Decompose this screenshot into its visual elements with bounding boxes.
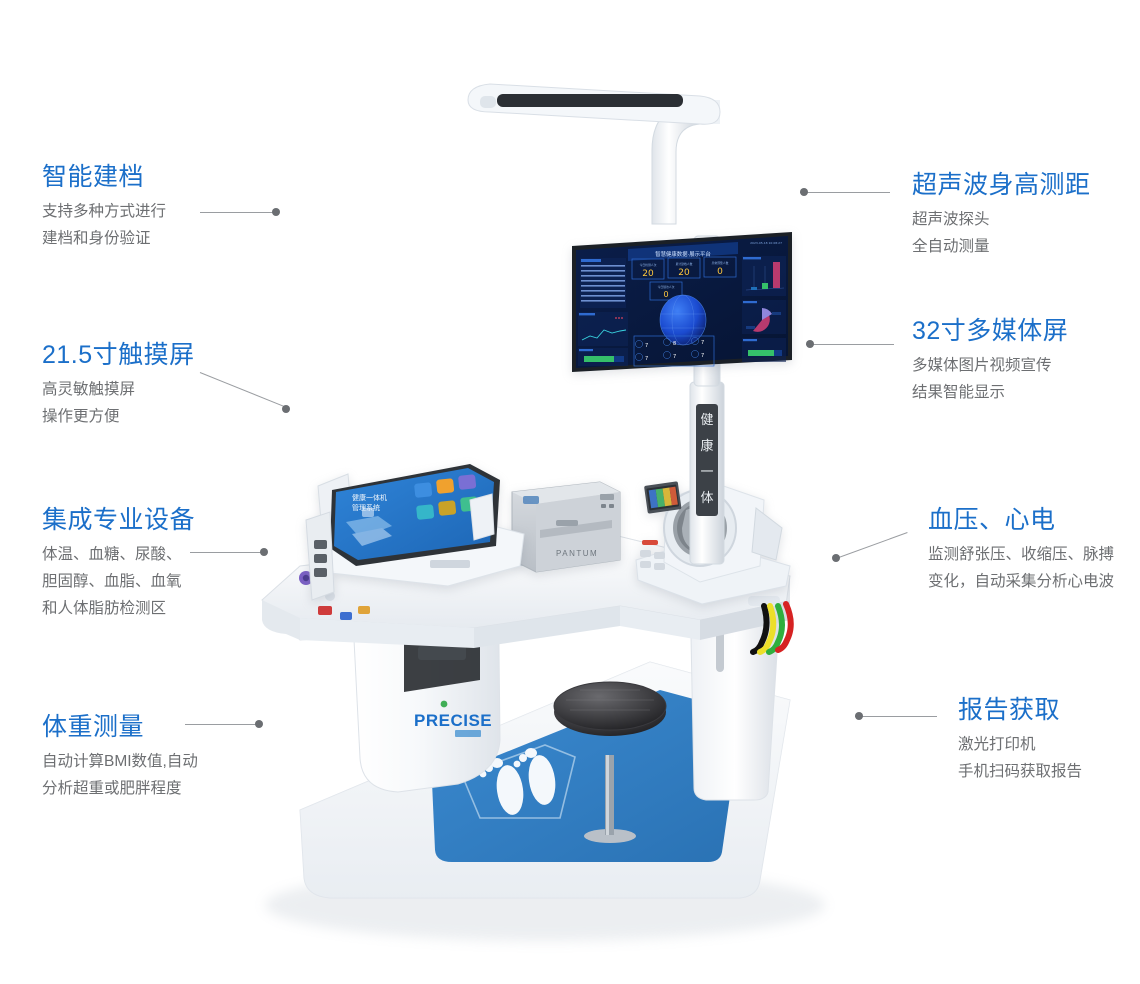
svg-text:康: 康 xyxy=(700,438,713,454)
leader-line-weight-measure xyxy=(185,720,275,730)
callout-weight-measure: 体重测量 自动计算BMI数值,自动 分析超重或肥胖程度 xyxy=(42,712,198,803)
callout-line: 超声波探头 xyxy=(912,207,1091,234)
leader-line-report-retrieval xyxy=(855,712,950,722)
callout-bloodpressure-ecg: 血压、心电 监测舒张压、收缩压、脉搏 变化，自动采集分析心电波 xyxy=(928,505,1114,596)
svg-text:PRECISE: PRECISE xyxy=(414,711,492,730)
laser-printer: PANTUM xyxy=(512,482,620,572)
svg-text:7: 7 xyxy=(701,340,704,346)
svg-text:0: 0 xyxy=(717,267,723,277)
svg-text:20: 20 xyxy=(642,269,654,279)
callout-line: 胆固醇、血脂、血氧 xyxy=(42,569,195,596)
callout-line: 操作更方便 xyxy=(42,404,195,431)
leader-line-ultrasonic-height xyxy=(800,188,900,198)
callout-title: 集成专业设备 xyxy=(42,505,195,536)
callout-ultrasonic-height: 超声波身高测距 超声波探头 全自动测量 xyxy=(912,170,1091,261)
callout-title: 血压、心电 xyxy=(928,505,1114,536)
dashboard-trend-chart xyxy=(578,312,628,346)
callout-title: 报告获取 xyxy=(958,695,1082,726)
callout-line: 手机扫码获取报告 xyxy=(958,759,1082,786)
callout-line: 结果智能显示 xyxy=(912,380,1068,407)
ultrasonic-height-arm xyxy=(468,84,720,224)
svg-text:异常预警人数: 异常预警人数 xyxy=(712,261,729,265)
callout-title: 21.5寸触摸屏 xyxy=(42,340,195,371)
svg-text:7: 7 xyxy=(701,353,704,359)
svg-text:20: 20 xyxy=(678,268,690,278)
callout-line: 体温、血糖、尿酸、 xyxy=(42,542,195,569)
svg-text:体: 体 xyxy=(700,491,713,506)
callout-line: 和人体脂肪检测区 xyxy=(42,596,195,623)
dashboard-list-panel xyxy=(580,258,626,308)
callout-integrated-devices: 集成专业设备 体温、血糖、尿酸、 胆固醇、血脂、血氧 和人体脂肪检测区 xyxy=(42,505,195,622)
callout-report-retrieval: 报告获取 激光打印机 手机扫码获取报告 xyxy=(958,695,1082,786)
callout-touchscreen: 21.5寸触摸屏 高灵敏触摸屏 操作更方便 xyxy=(42,340,195,431)
infographic-canvas: PRECISE xyxy=(0,0,1140,984)
callout-title: 32寸多媒体屏 xyxy=(912,316,1068,347)
svg-text:PANTUM: PANTUM xyxy=(556,549,598,558)
leader-line-smart-filing xyxy=(200,208,280,218)
svg-text:7: 7 xyxy=(645,343,648,349)
callout-smart-filing: 智能建档 支持多种方式进行 建档和身份验证 xyxy=(42,162,166,253)
callout-line: 建档和身份验证 xyxy=(42,226,166,253)
callout-line: 全自动测量 xyxy=(912,234,1091,261)
svg-text:今日检测人次: 今日检测人次 xyxy=(640,263,657,267)
svg-text:智慧健康数据·展示平台: 智慧健康数据·展示平台 xyxy=(655,250,711,258)
dashboard-progress-left xyxy=(578,348,628,366)
callout-line: 激光打印机 xyxy=(958,732,1082,759)
dashboard-bar-chart xyxy=(742,256,786,296)
leader-line-touchscreen xyxy=(200,372,320,422)
callout-title: 智能建档 xyxy=(42,162,166,193)
svg-text:健康一体机: 健康一体机 xyxy=(352,493,387,502)
svg-text:今日随访人次: 今日随访人次 xyxy=(658,285,675,289)
callout-line: 变化，自动采集分析心电波 xyxy=(928,569,1114,596)
callout-line: 分析超重或肥胖程度 xyxy=(42,776,198,803)
callout-multimedia-screen: 32寸多媒体屏 多媒体图片视频宣传 结果智能显示 xyxy=(912,316,1068,407)
health-kiosk-illustration: PRECISE xyxy=(0,0,1140,984)
leader-line-multimedia-screen xyxy=(806,340,906,350)
probe-socket-2 xyxy=(318,606,332,615)
callout-line: 支持多种方式进行 xyxy=(42,199,166,226)
svg-text:7: 7 xyxy=(645,356,648,362)
multimedia-screen: 智慧健康数据·展示平台 2023-05-18 10:08:27 xyxy=(572,232,792,372)
callout-line: 自动计算BMI数值,自动 xyxy=(42,749,198,776)
leader-line-integrated-devices xyxy=(190,548,280,558)
callout-title: 超声波身高测距 xyxy=(912,170,1091,201)
svg-text:0: 0 xyxy=(663,290,668,299)
svg-text:一: 一 xyxy=(700,465,713,480)
callout-line: 监测舒张压、收缩压、脉搏 xyxy=(928,542,1114,569)
svg-text:8: 8 xyxy=(673,341,676,347)
dashboard-progress-right xyxy=(742,338,786,362)
callout-line: 多媒体图片视频宣传 xyxy=(912,353,1068,380)
svg-text:健: 健 xyxy=(700,413,713,428)
dashboard-pie-chart xyxy=(742,300,786,334)
printer-lcd xyxy=(523,496,539,504)
leader-line-bloodpressure-ecg xyxy=(836,528,936,568)
svg-text:2023-05-18 10:08:27: 2023-05-18 10:08:27 xyxy=(750,241,782,245)
callout-title: 体重测量 xyxy=(42,712,198,743)
dashboard-globe xyxy=(660,295,706,345)
callout-line: 高灵敏触摸屏 xyxy=(42,377,195,404)
ultrasonic-sensor-strip xyxy=(497,94,683,107)
svg-text:累计建档人数: 累计建档人数 xyxy=(676,262,693,266)
svg-text:7: 7 xyxy=(673,354,676,360)
